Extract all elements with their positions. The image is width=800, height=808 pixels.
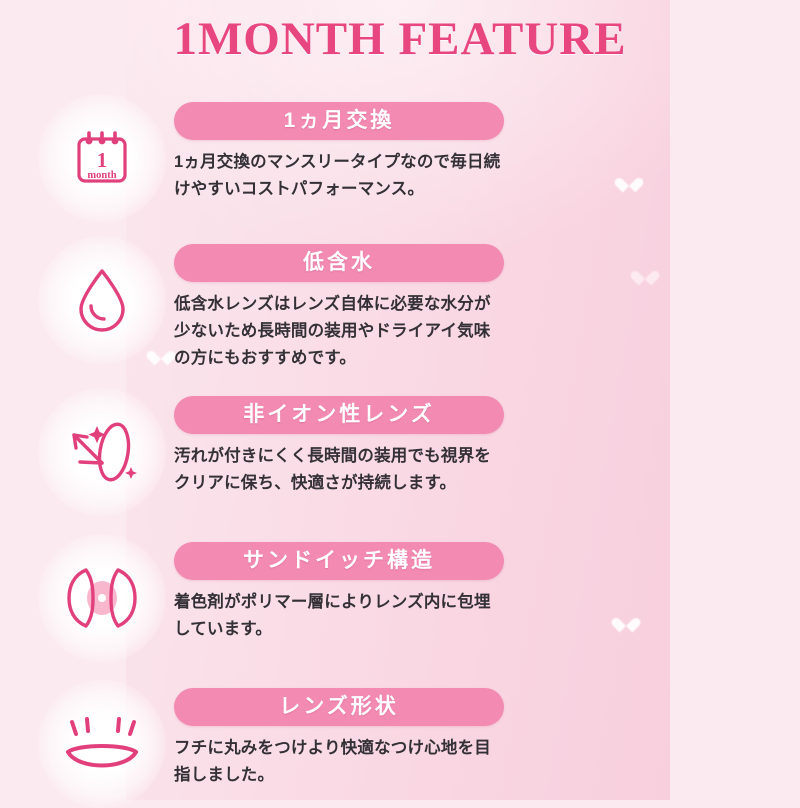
heart-icon: [636, 265, 649, 277]
feature-pill-2: 低含水: [174, 244, 504, 282]
feature-pill-1: 1ヵ月交換: [174, 102, 504, 140]
heart-icon: [617, 612, 635, 628]
feature-pill-3: 非イオン性レンズ: [174, 396, 504, 434]
feature-pill-5: レンズ形状: [174, 688, 504, 726]
feature-description-4: 着色剤がポリマー層によりレンズ内に包埋しています。: [174, 589, 504, 643]
feature-description-1: 1ヵ月交換のマンスリータイプなので毎日続けやすいコストパフォーマンス。: [174, 149, 504, 203]
svg-text:month: month: [87, 170, 116, 181]
heart-icon: [620, 172, 638, 188]
water-droplet-icon: [42, 240, 162, 360]
feature-description-5: フチに丸みをつけより快適なつけ心地を目指しました。: [174, 735, 504, 789]
feature-infographic: 1MONTH FEATURE 1 month 1ヵ月交換 1ヵ月交換のマンスリー…: [0, 0, 800, 800]
calendar-1month-icon: 1 month: [42, 98, 162, 218]
feature-description-3: 汚れが付きにくく長時間の装用でも視界をクリアに保ち、快適さが持続します。: [174, 443, 504, 497]
feature-pill-4: サンドイッチ構造: [174, 542, 504, 580]
feature-description-2: 低含水レンズはレンズ自体に必要な水分が少ないため長時間の装用やドライアイ気味の方…: [174, 291, 504, 373]
page-title: 1MONTH FEATURE: [0, 12, 800, 66]
lens-shape-smile-icon: [42, 684, 162, 804]
svg-text:1: 1: [97, 148, 108, 172]
sandwich-structure-lens-icon: [42, 538, 162, 658]
nonionic-lens-repel-icon: [42, 392, 162, 512]
